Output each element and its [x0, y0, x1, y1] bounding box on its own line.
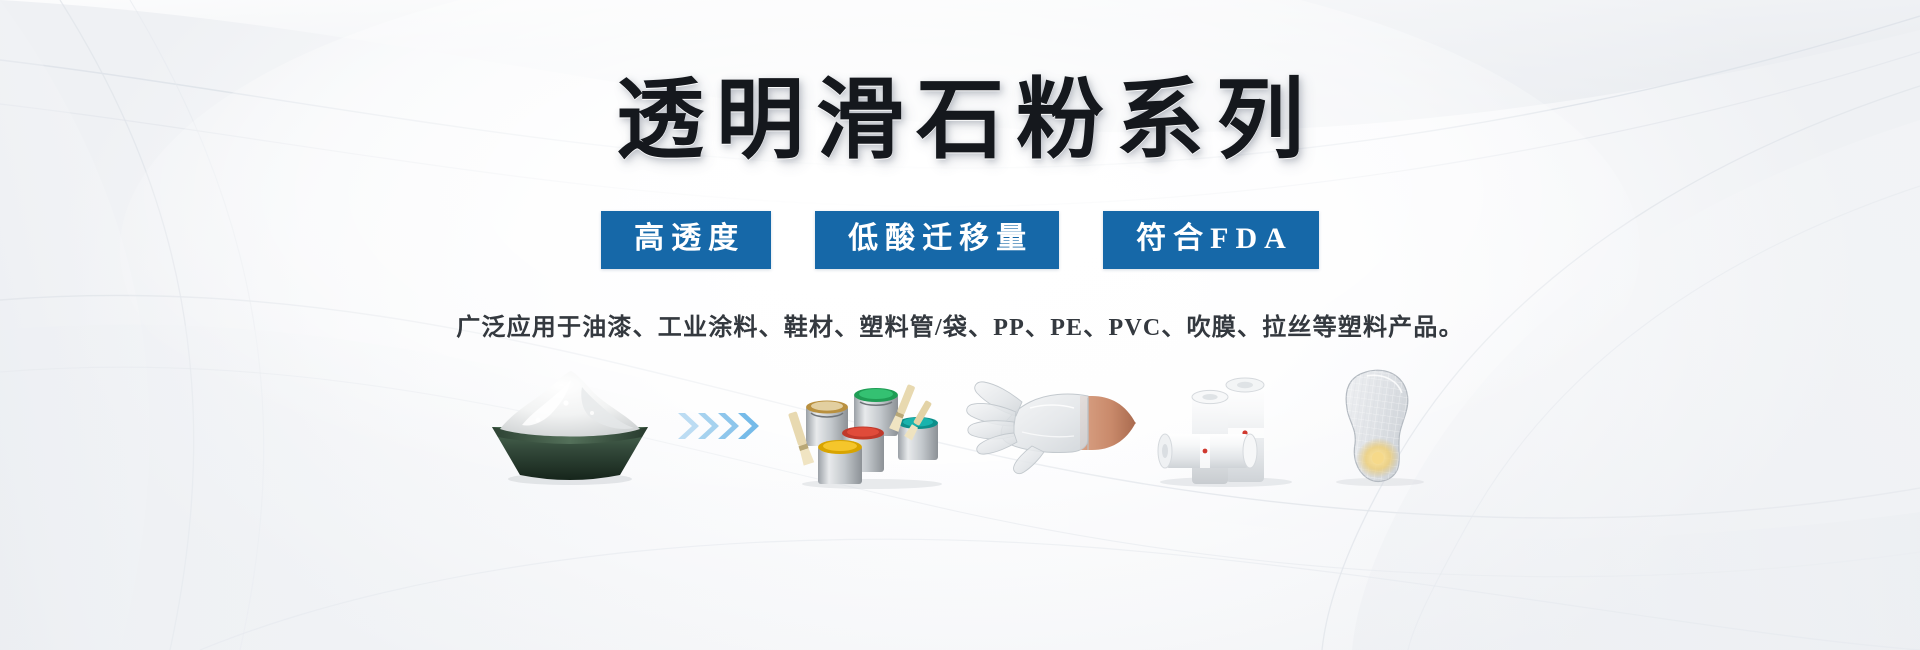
product-film-rolls — [1140, 360, 1310, 495]
badge-low-acid-migration[interactable]: 低酸迁移量 — [815, 211, 1059, 269]
product-banner: 透明滑石粉系列 高透度 低酸迁移量 符合FDA 广泛应用于油漆、工业涂料、鞋材、… — [0, 0, 1920, 650]
product-shoe-insole — [1310, 360, 1450, 495]
page-title: 透明滑石粉系列 — [604, 74, 1316, 169]
product-image-strip — [470, 360, 1450, 495]
product-paint-cans — [780, 360, 960, 495]
feature-badge-list: 高透度 低酸迁移量 符合FDA — [601, 211, 1319, 269]
chevron-arrows-icon — [670, 365, 780, 490]
application-description: 广泛应用于油漆、工业涂料、鞋材、塑料管/袋、PP、PE、PVC、吹膜、拉丝等塑料… — [456, 307, 1464, 342]
product-gloved-hand — [960, 362, 1140, 492]
badge-fda-compliant[interactable]: 符合FDA — [1103, 211, 1319, 269]
badge-high-transparency[interactable]: 高透度 — [601, 211, 771, 269]
product-talc-powder-bowl — [470, 365, 670, 490]
